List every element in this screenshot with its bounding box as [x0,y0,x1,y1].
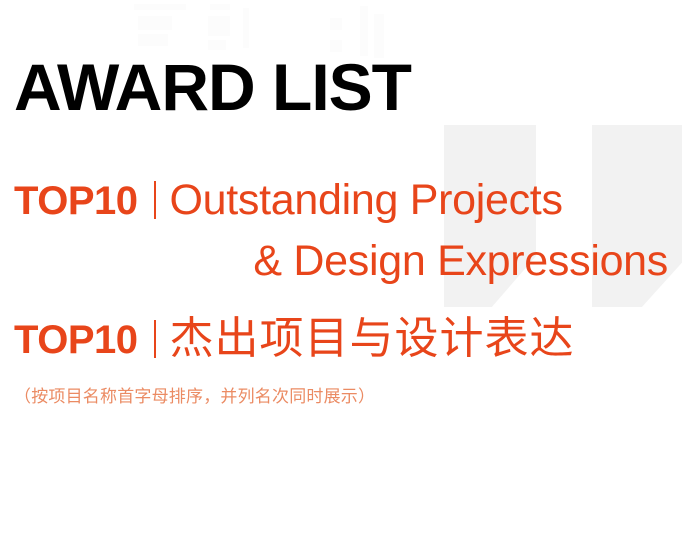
award-category-chinese: 杰出项目与设计表达 [170,317,575,361]
background-artifact [208,16,230,36]
award-line-chinese: TOP10 杰出项目与设计表达 [14,315,575,361]
background-artifact [138,34,168,46]
vertical-divider [154,181,156,219]
award-line-english: TOP10 Outstanding Projects [14,176,563,222]
award-category-english: Outstanding Projects [170,179,563,222]
vertical-divider [154,320,156,358]
background-artifact [138,16,172,30]
background-artifact [360,6,368,56]
award-list-poster: AWARD LIST TOP10 Outstanding Projects & … [0,0,682,539]
background-artifact [208,40,226,50]
background-artifact [330,18,342,30]
page-title: AWARD LIST [14,54,411,120]
award-rank-label: TOP10 [14,320,138,360]
background-artifact [210,4,230,10]
background-artifact [243,8,249,48]
award-rank-label: TOP10 [14,181,138,221]
background-artifact [134,4,186,10]
ordering-note: （按项目名称首字母排序，并列名次同时展示） [14,387,375,407]
award-category-english-continuation: & Design Expressions [185,240,668,283]
